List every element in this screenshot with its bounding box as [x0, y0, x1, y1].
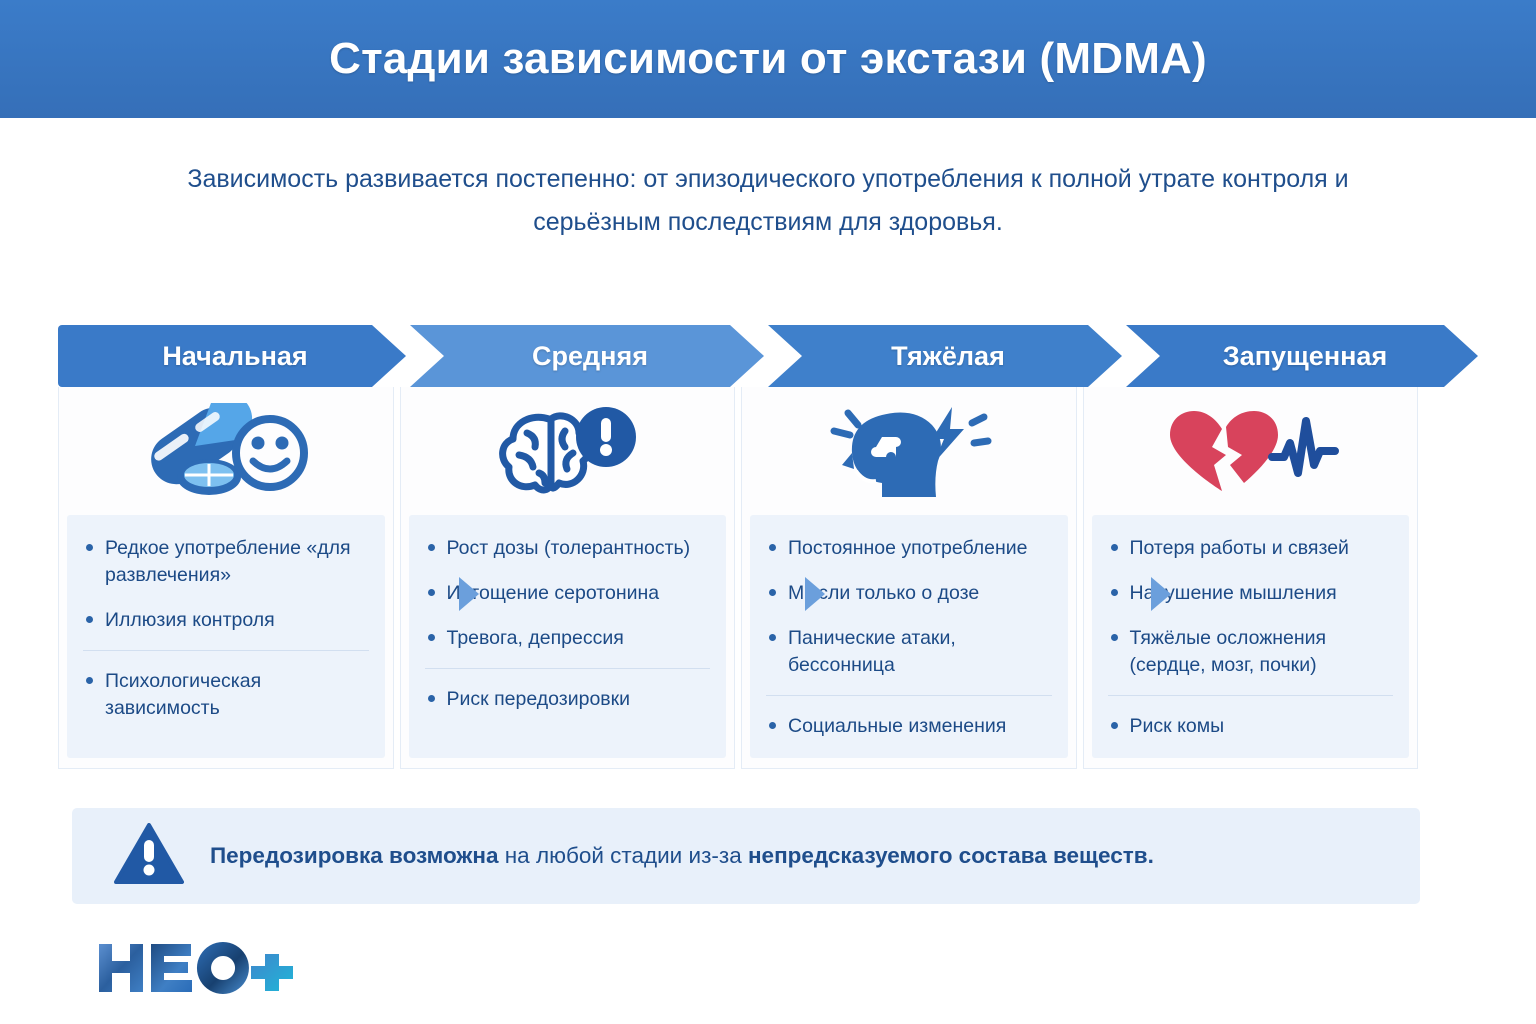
warning-text: Передозировка возможна на любой стадии и…: [210, 841, 1154, 870]
stage-bullets-3: Потеря работы и связей Нарушение мышлени…: [1092, 515, 1410, 758]
stage-connector-arrow-3: [1151, 577, 1171, 611]
list-item: Тревога, депрессия: [425, 625, 711, 652]
list-item: Рост дозы (толерантность): [425, 535, 711, 562]
broken-heart-ecg-icon: [1084, 387, 1418, 515]
stage-card-3: Потеря работы и связей Нарушение мышлени…: [1083, 387, 1419, 769]
list-item: Потеря работы и связей: [1108, 535, 1394, 562]
warning-triangle-icon: [114, 823, 184, 890]
warning-bold-start: Передозировка возможна: [210, 843, 499, 868]
list-item: Иллюзия контроля: [83, 607, 369, 634]
warning-bold-end: непредсказуемого состава веществ.: [748, 843, 1154, 868]
stage-header-1[interactable]: Средняя: [410, 325, 764, 387]
list-item: Риск передозировки: [425, 668, 711, 713]
list-item: Панические атаки, бессонница: [766, 625, 1052, 679]
header-band: Стадии зависимости от экстази (MDMA): [0, 0, 1536, 118]
stage-bullets-2: Постоянное употребление Мысли только о д…: [750, 515, 1068, 758]
stage-label-3: Запущенная: [1126, 341, 1478, 372]
list-item: Постоянное употребление: [766, 535, 1052, 562]
pills-smiley-icon: [59, 387, 393, 515]
page-title: Стадии зависимости от экстази (MDMA): [329, 34, 1207, 84]
stage-label-1: Средняя: [410, 341, 764, 372]
stage-header-3[interactable]: Запущенная: [1126, 325, 1478, 387]
stage-header-2[interactable]: Тяжёлая: [768, 325, 1122, 387]
stage-connector-arrow-2: [805, 577, 825, 611]
stage-bullets-1: Рост дозы (толерантность) Истощение серо…: [409, 515, 727, 758]
stage-cards-row: Редкое употребление «для развлечения» Ил…: [58, 387, 1418, 769]
stage-card-0: Редкое употребление «для развлечения» Ил…: [58, 387, 394, 769]
list-item: Риск комы: [1108, 695, 1394, 740]
stage-card-1: Рост дозы (толерантность) Истощение серо…: [400, 387, 736, 769]
list-item: Психологическая зависимость: [83, 650, 369, 722]
list-item: Редкое употребление «для развлечения»: [83, 535, 369, 589]
list-item: Тяжёлые осложнения (сердце, мозг, почки): [1108, 625, 1394, 679]
warning-middle: на любой стадии из-за: [499, 843, 748, 868]
stage-connector-arrow-1: [459, 577, 479, 611]
stage-card-2: Постоянное употребление Мысли только о д…: [741, 387, 1077, 769]
list-item: Социальные изменения: [766, 695, 1052, 740]
stage-label-2: Тяжёлая: [768, 341, 1122, 372]
stage-label-0: Начальная: [58, 341, 406, 372]
stage-header-0[interactable]: Начальная: [58, 325, 406, 387]
warning-banner: Передозировка возможна на любой стадии и…: [72, 808, 1420, 904]
logo-neo-plus[interactable]: [95, 938, 295, 998]
subtitle-text: Зависимость развивается постепенно: от э…: [150, 158, 1386, 244]
stage-header-strip: Начальная Средняя Тяжёлая Запущенная: [58, 325, 1418, 387]
stage-bullets-0: Редкое употребление «для развлечения» Ил…: [67, 515, 385, 758]
head-puzzle-lightning-icon: [742, 387, 1076, 515]
brain-alert-icon: [401, 387, 735, 515]
